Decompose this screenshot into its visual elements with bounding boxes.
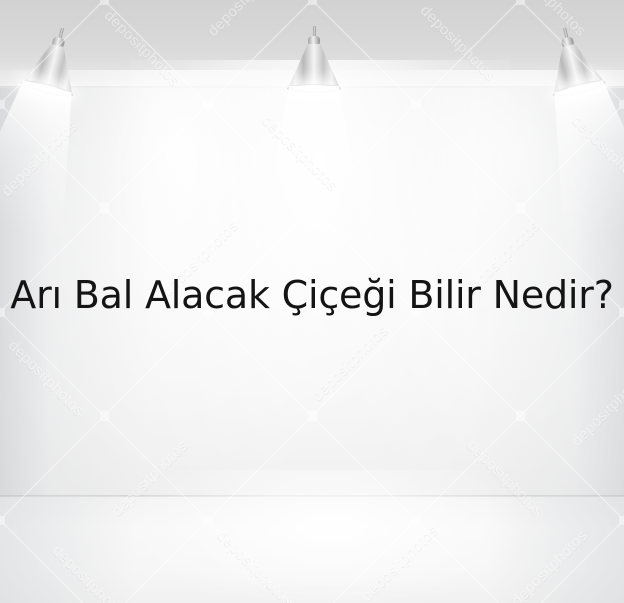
scene-canvas: depositphotosdepositphotosdepositphotosd…	[0, 0, 624, 603]
page-title: Arı Bal Alacak Çiçeği Bilir Nedir?	[0, 272, 624, 318]
floor-vignette	[0, 497, 624, 603]
center-spotlight	[288, 26, 340, 96]
lamp-shade-icon	[288, 44, 340, 88]
